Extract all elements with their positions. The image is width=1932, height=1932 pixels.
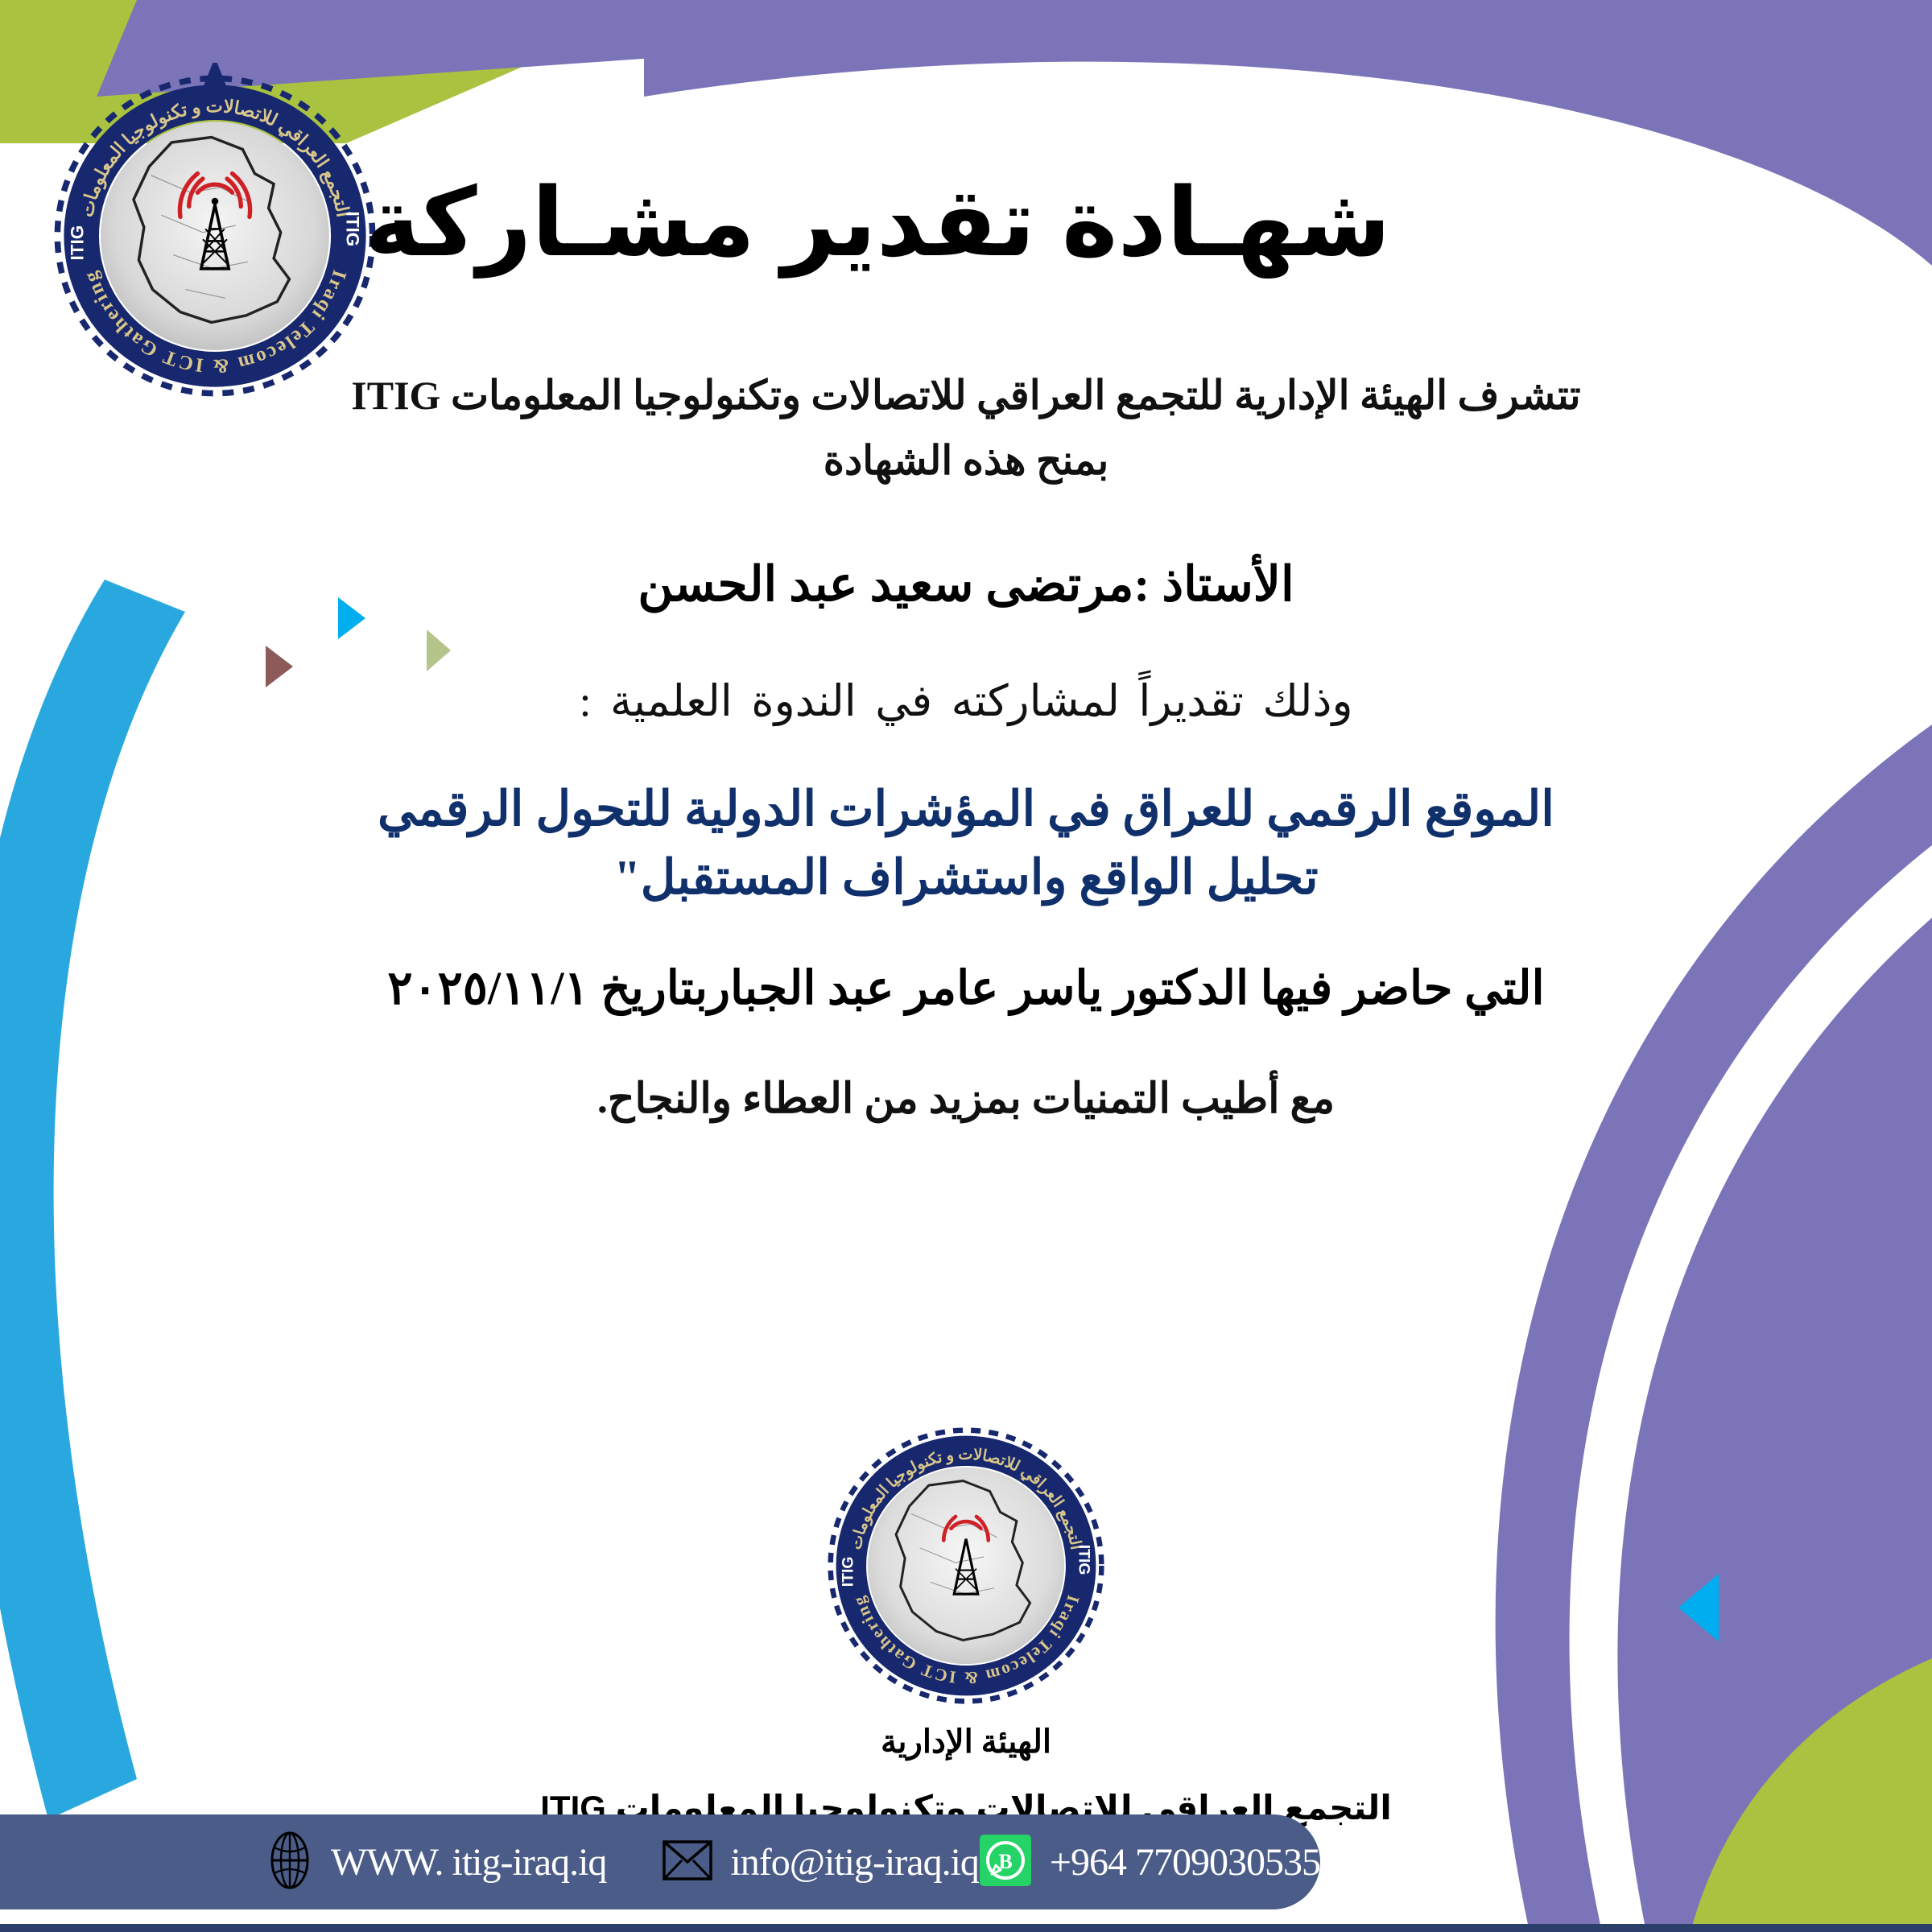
signature-body-name: الهيئة الإدارية xyxy=(0,1723,1932,1761)
page-title: شهـادة تقدير مشـاركة xyxy=(48,169,1884,279)
itig-logo-bottom: التجمع العراقي للاتصالات و تكنولوجيا الم… xyxy=(817,1417,1115,1715)
certificate-content: شهـادة تقدير مشـاركة تتشرف الهيئة الإدار… xyxy=(48,169,1884,1129)
seminar-title-line-1: الموقع الرقمي للعراق في المؤشرات الدولية… xyxy=(80,777,1851,842)
certificate-page: التجمع العراقي للاتصالات و تكنولوجيا الم… xyxy=(0,0,1932,1932)
website-url: WWW. itig-iraq.iq xyxy=(331,1840,606,1885)
svg-text:ITIG: ITIG xyxy=(839,1557,857,1587)
itig-logo-svg-bottom: التجمع العراقي للاتصالات و تكنولوجيا الم… xyxy=(817,1417,1115,1715)
reason-statement: وذلك تقديراً لمشاركته في الندوة العلمية … xyxy=(80,671,1851,733)
closing-wishes: مع أطيب التمنيات بمزيد من العطاء والنجاح… xyxy=(80,1071,1851,1129)
contact-email[interactable]: info@itig-iraq.iq xyxy=(663,1840,978,1885)
contact-phone[interactable]: B +964 7709030535 xyxy=(979,1834,1320,1891)
globe-icon xyxy=(266,1831,313,1893)
whatsapp-icon: B xyxy=(979,1834,1032,1891)
seminar-title-line-2: تحليل الواقع واستشراف المستقبل" xyxy=(80,845,1851,910)
envelope-icon xyxy=(663,1840,712,1885)
lecturer-and-date: التي حاضر فيها الدكتور ياسر عامر عبد الج… xyxy=(80,956,1851,1021)
recipient-name: الأستاذ :مرتضى سعيد عبد الحسن xyxy=(80,551,1851,618)
footer-contact-bar: B +964 7709030535 info@itig-iraq.iq xyxy=(0,1814,1320,1909)
certificate-body: تتشرف الهيئة الإدارية للتجمع العراقي للا… xyxy=(48,365,1884,1130)
honor-statement: تتشرف الهيئة الإدارية للتجمع العراقي للا… xyxy=(80,365,1851,426)
phone-number: +964 7709030535 xyxy=(1050,1840,1320,1885)
email-address: info@itig-iraq.iq xyxy=(730,1840,978,1885)
signature-block: الهيئة الإدارية التجمع العراقي للاتصالات… xyxy=(0,1723,1932,1827)
svg-text:ITIG: ITIG xyxy=(1075,1545,1093,1575)
svg-text:B: B xyxy=(998,1850,1012,1873)
footer-bottom-rule xyxy=(0,1924,1932,1932)
contact-website[interactable]: WWW. itig-iraq.iq xyxy=(266,1831,606,1893)
award-statement: بمنح هذه الشهادة xyxy=(80,431,1851,491)
decoration-triangle-cyan-large xyxy=(1678,1574,1719,1641)
